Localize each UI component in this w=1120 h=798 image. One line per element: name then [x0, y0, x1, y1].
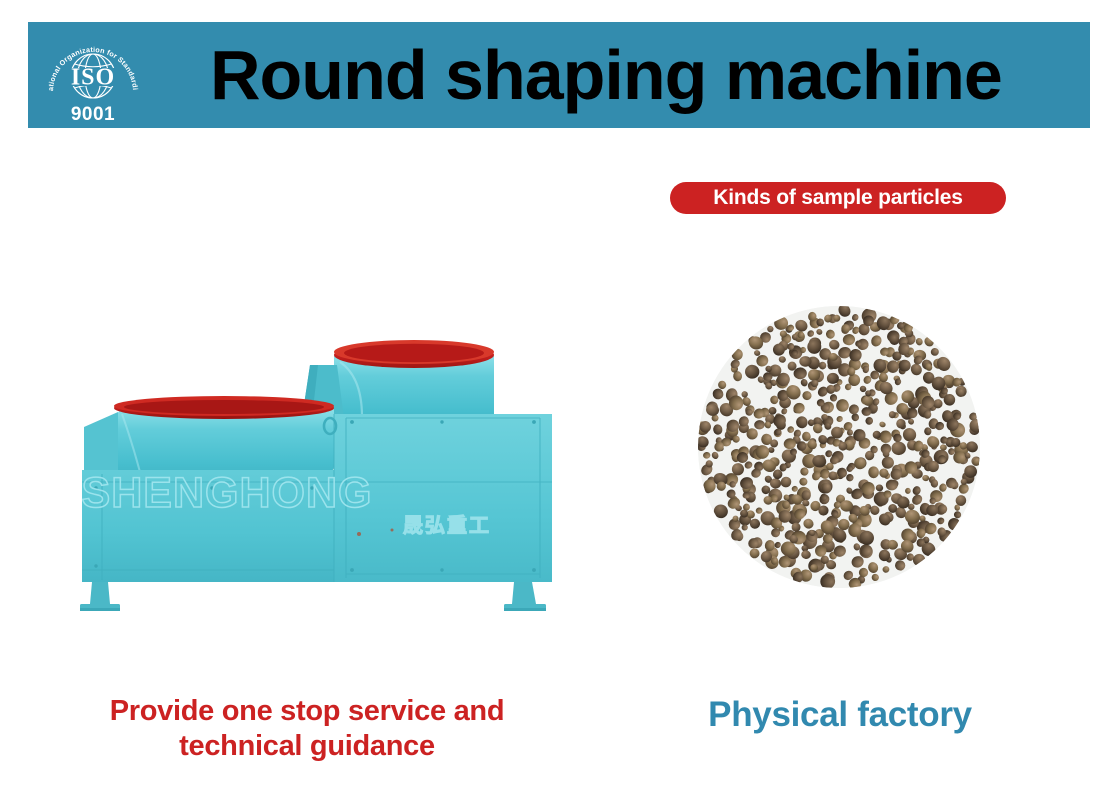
iso-wordmark: ISO: [71, 65, 115, 91]
caption-left-line1: Provide one stop service and: [42, 694, 572, 729]
machine-brand-emboss-cn: 晟弘重工: [403, 513, 491, 537]
iso-globe-icon: International Organization for Standardi…: [41, 36, 145, 114]
sample-particles-badge-label: Kinds of sample particles: [713, 186, 962, 210]
slide-page: International Organization for Standardi…: [0, 0, 1120, 798]
machine-brand-emboss: SHENGHONG: [82, 469, 373, 517]
page-title: Round shaping machine: [158, 40, 1090, 110]
caption-right: Physical factory: [620, 694, 1060, 737]
round-shaping-machine-photo: SHENGHONG 晟弘重工: [62, 322, 602, 622]
header-bar: International Organization for Standardi…: [28, 22, 1090, 128]
iso-certification-badge: International Organization for Standardi…: [28, 22, 158, 128]
caption-left-line2: technical guidance: [42, 729, 572, 764]
caption-left: Provide one stop service and technical g…: [42, 694, 572, 765]
iso-standard-number: 9001: [28, 104, 158, 126]
granule-sample-circle-photo: [698, 306, 980, 588]
caption-right-line1: Physical factory: [620, 694, 1060, 737]
sample-particles-badge: Kinds of sample particles: [670, 182, 1006, 214]
